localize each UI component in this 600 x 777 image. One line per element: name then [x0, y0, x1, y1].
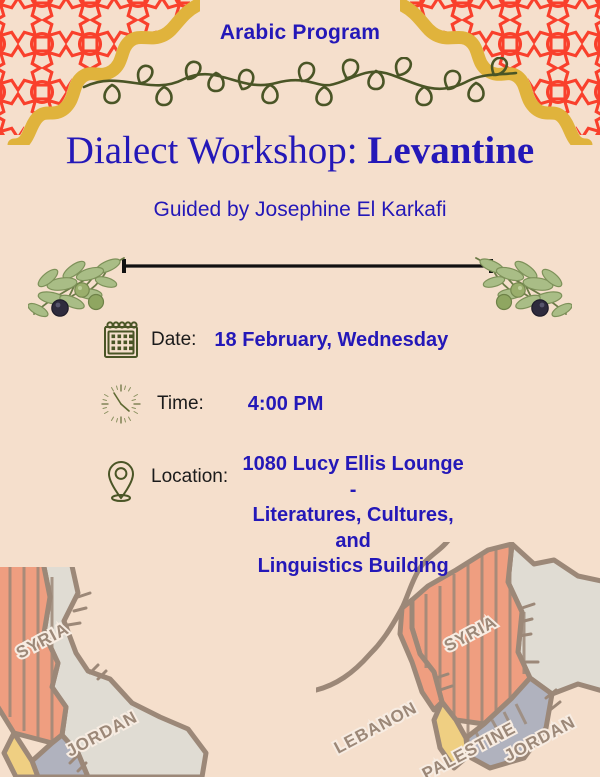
date-label: Date:: [151, 329, 196, 351]
clock-icon: [95, 382, 147, 426]
location-label: Location:: [151, 466, 228, 488]
location-line-3: Linguistics Building: [238, 554, 468, 580]
calendar-icon: [95, 320, 147, 360]
page-title-prefix: Dialect Workshop:: [66, 129, 368, 172]
poster-canvas: SYRIA JORDAN: [0, 0, 600, 777]
page-title-highlight: Levantine: [367, 129, 534, 172]
time-label: Time:: [157, 393, 204, 415]
location-line-2: Literatures, Cultures, and: [238, 503, 468, 554]
program-title: Arabic Program: [0, 21, 600, 45]
horizontal-rule-divider: [120, 259, 495, 273]
location-value: 1080 Lucy Ellis Lounge - Literatures, Cu…: [238, 452, 468, 580]
date-value: 18 February, Wednesday: [214, 329, 448, 352]
map-label-lebanon: LEBANON: [331, 698, 420, 758]
detail-row-location: Location: 1080 Lucy Ellis Lounge - Liter…: [0, 452, 600, 580]
location-line-1: 1080 Lucy Ellis Lounge -: [238, 452, 468, 503]
time-value: 4:00 PM: [248, 393, 324, 416]
event-details: Date: 18 February, Wednesday: [0, 320, 600, 602]
detail-row-time: Time: 4:00 PM: [0, 382, 600, 426]
location-pin-icon: [95, 458, 147, 502]
detail-row-date: Date: 18 February, Wednesday: [0, 320, 600, 360]
olive-branch-icon-right: [472, 252, 572, 324]
guided-by-subtitle: Guided by Josephine El Karkafi: [0, 198, 600, 222]
page-title: Dialect Workshop: Levantine: [0, 128, 600, 173]
vine-leaves-divider-icon: [80, 57, 520, 107]
olive-branch-icon-left: [28, 252, 128, 324]
